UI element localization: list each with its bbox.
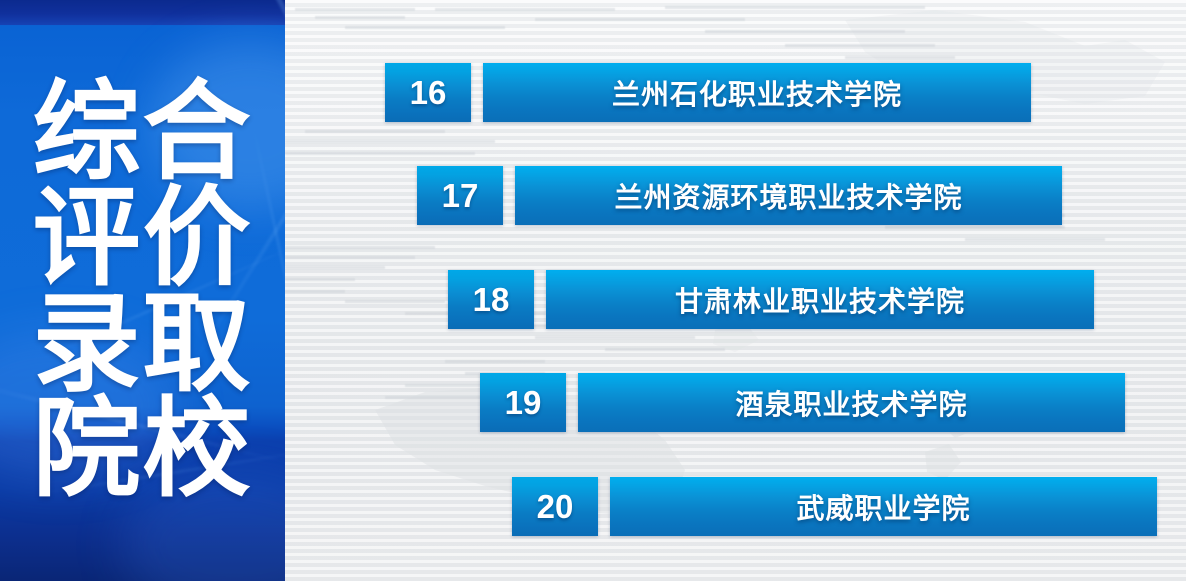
title-line-1: 综合 — [32, 79, 252, 185]
list-item[interactable]: 20 武威职业学院 — [512, 477, 1157, 536]
school-bar[interactable]: 武威职业学院 — [610, 477, 1157, 536]
list-item[interactable]: 17 兰州资源环境职业技术学院 — [417, 166, 1062, 225]
rank-badge: 20 — [512, 477, 598, 536]
poster-canvas: 综合 评价 录取 院校 — [0, 0, 1186, 581]
rank-badge: 18 — [448, 270, 534, 329]
title-line-2: 评价 — [32, 185, 252, 291]
school-name: 酒泉职业技术学院 — [735, 383, 967, 423]
school-name: 甘肃林业职业技术学院 — [675, 280, 965, 320]
list-item[interactable]: 16 兰州石化职业技术学院 — [385, 63, 1031, 122]
list-item[interactable]: 18 甘肃林业职业技术学院 — [448, 270, 1094, 329]
rank-badge: 17 — [417, 166, 503, 225]
title-line-4: 院校 — [32, 396, 252, 502]
school-name: 武威职业学院 — [796, 487, 970, 527]
list-item[interactable]: 19 酒泉职业技术学院 — [480, 373, 1125, 432]
school-bar[interactable]: 甘肃林业职业技术学院 — [546, 270, 1094, 329]
school-bar[interactable]: 兰州石化职业技术学院 — [483, 63, 1031, 122]
school-name: 兰州石化职业技术学院 — [612, 73, 902, 113]
school-name: 兰州资源环境职业技术学院 — [614, 176, 962, 216]
rank-badge: 16 — [385, 63, 471, 122]
poster-title: 综合 评价 录取 院校 — [0, 0, 285, 581]
school-bar[interactable]: 兰州资源环境职业技术学院 — [515, 166, 1062, 225]
school-bar[interactable]: 酒泉职业技术学院 — [578, 373, 1125, 432]
title-line-3: 录取 — [32, 291, 252, 397]
rank-badge: 19 — [480, 373, 566, 432]
left-title-panel: 综合 评价 录取 院校 — [0, 0, 285, 581]
